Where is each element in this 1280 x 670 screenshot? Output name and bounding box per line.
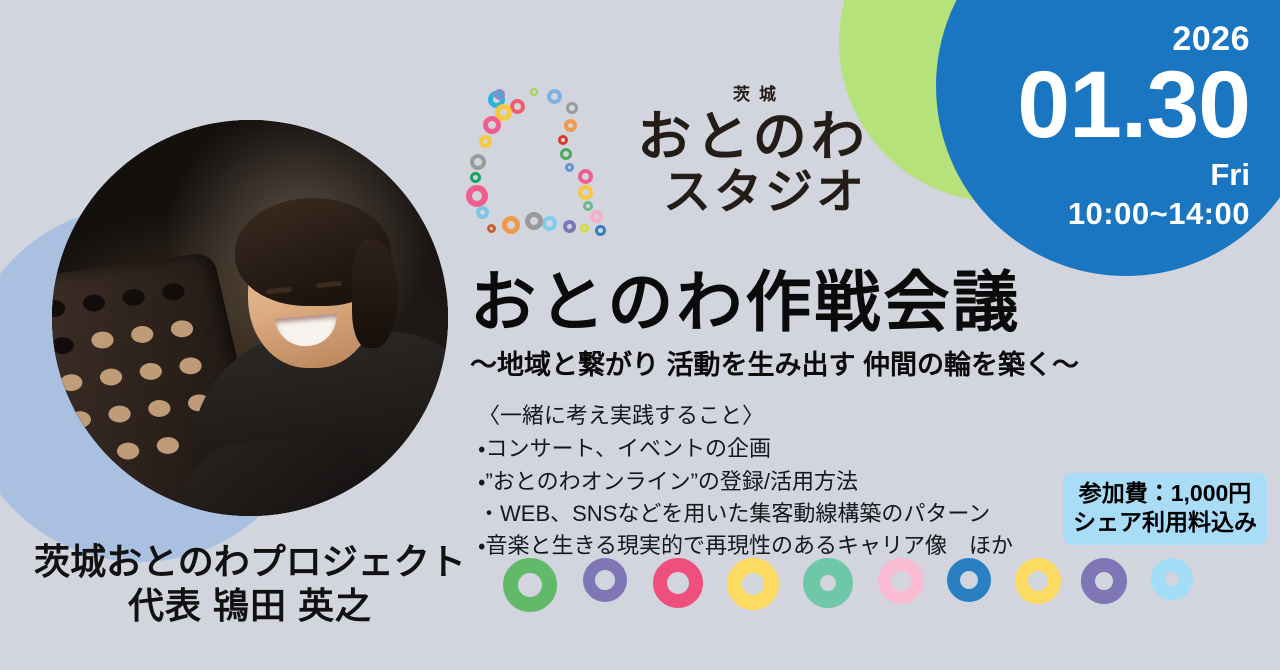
logo-ring-dot bbox=[590, 210, 603, 223]
decorative-ring bbox=[727, 558, 779, 610]
presenter-photo bbox=[52, 120, 448, 516]
logo-ring-dot bbox=[502, 216, 520, 234]
logo-ring-dot bbox=[566, 102, 578, 114]
logo-ring-dot bbox=[547, 89, 562, 104]
decorative-ring-row bbox=[503, 558, 1203, 614]
logo-ring-dot bbox=[560, 148, 572, 160]
logo-ring-dot bbox=[510, 99, 525, 114]
agenda-list: 〈一緒に考え実践すること〉 ・コンサート、イベントの企画 ・”おとのわオンライン… bbox=[478, 400, 1078, 563]
headline-title: おとのわ作戦会議 bbox=[470, 268, 1210, 337]
logo-ring-dot bbox=[564, 119, 577, 132]
price-includes: シェア利用料込み bbox=[1073, 508, 1257, 537]
decorative-ring bbox=[1015, 558, 1061, 604]
decorative-ring bbox=[583, 558, 627, 602]
logo-ring-dot bbox=[525, 212, 543, 230]
logo-ring-dot bbox=[530, 88, 538, 96]
presenter-caption: 茨城おとのわプロジェクト 代表 鴇田 英之 bbox=[0, 540, 500, 628]
logo-ring-dot bbox=[494, 89, 505, 100]
logo-ring-dot bbox=[563, 220, 576, 233]
event-time: 10:00~14:00 bbox=[960, 198, 1250, 229]
price-amount: 参加費：1,000円 bbox=[1073, 479, 1257, 508]
logo-ring-dot bbox=[565, 163, 574, 172]
logo-ring-dot bbox=[583, 201, 593, 211]
poster-canvas: 2026 01.30 Fri 10:00~14:00 茨城おとのわプロジェクト … bbox=[0, 0, 1280, 670]
event-date-block: 2026 01.30 Fri 10:00~14:00 bbox=[960, 22, 1250, 229]
figure-hair-side bbox=[352, 240, 398, 348]
event-headline: おとのわ作戦会議 〜地域と繋がり 活動を生み出す 仲間の輪を築く〜 bbox=[470, 268, 1210, 382]
logo-ring-dot bbox=[558, 135, 568, 145]
logo-ring-dot bbox=[495, 104, 512, 121]
logo-ring-dot bbox=[470, 154, 486, 170]
logo-ring-dot bbox=[466, 185, 488, 207]
presenter-organization: 茨城おとのわプロジェクト bbox=[0, 540, 500, 584]
headline-subtitle: 〜地域と繋がり 活動を生み出す 仲間の輪を築く〜 bbox=[470, 343, 1210, 382]
logo-ring-dot bbox=[580, 224, 589, 233]
decorative-ring bbox=[947, 558, 991, 602]
agenda-item: ・コンサート、イベントの企画 bbox=[478, 433, 1078, 465]
logo-ring-dot bbox=[578, 185, 593, 200]
event-weekday: Fri bbox=[960, 159, 1250, 190]
event-date: 01.30 bbox=[960, 58, 1250, 153]
agenda-item: ・”おとのわオンライン”の登録/活用方法 bbox=[478, 466, 1078, 498]
logo-prefecture: 茨城 bbox=[618, 80, 888, 105]
decorative-ring bbox=[803, 558, 853, 608]
otonowa-studio-logo: 茨城 おとのわ スタジオ bbox=[468, 80, 888, 250]
logo-ring-dot bbox=[595, 225, 606, 236]
decorative-ring bbox=[653, 558, 703, 608]
logo-ring-dot bbox=[542, 216, 557, 231]
logo-ring-dot bbox=[578, 169, 593, 184]
logo-suffix: スタジオ bbox=[618, 168, 888, 218]
decorative-ring bbox=[1151, 558, 1193, 600]
logo-ring-dot bbox=[476, 206, 489, 219]
agenda-item: ・WEB、SNSなどを用いた集客動線構築のパターン bbox=[478, 498, 1078, 530]
logo-wordmark: 茨城 おとのわ スタジオ bbox=[618, 80, 888, 218]
otonowa-ring-mark-icon bbox=[468, 82, 628, 242]
logo-ring-dot bbox=[487, 224, 496, 233]
decorative-ring bbox=[878, 558, 924, 604]
presenter-name: 代表 鴇田 英之 bbox=[0, 584, 500, 628]
agenda-heading: 〈一緒に考え実践すること〉 bbox=[478, 400, 1078, 432]
decorative-ring bbox=[503, 558, 557, 612]
logo-name: おとのわ bbox=[618, 109, 888, 166]
logo-ring-dot bbox=[479, 135, 492, 148]
event-year: 2026 bbox=[960, 22, 1250, 56]
logo-ring-dot bbox=[470, 172, 481, 183]
price-badge: 参加費：1,000円 シェア利用料込み bbox=[1063, 473, 1267, 545]
decorative-ring bbox=[1081, 558, 1127, 604]
